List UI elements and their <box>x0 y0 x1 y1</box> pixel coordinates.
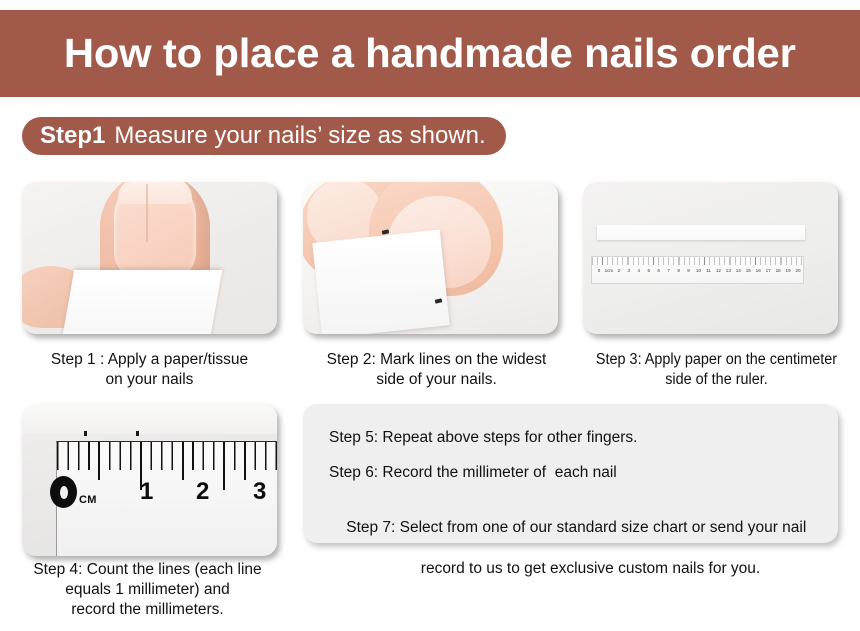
caption-line: Step 4: Count the lines (each line <box>33 561 261 578</box>
ruler-number-label: 4 <box>634 266 644 275</box>
ruler-number-label: 1cm <box>604 266 614 275</box>
ruler-tick-marks <box>592 257 803 265</box>
ruler-number-2: 2 <box>196 480 209 504</box>
caption-line: side of the ruler. <box>665 371 768 388</box>
fingernail-tip-shape <box>118 182 192 204</box>
marked-paper-strip-shape <box>312 230 449 334</box>
ruler-number-label: 18 <box>773 266 783 275</box>
page-header-banner: How to place a handmade nails order <box>0 10 860 97</box>
ruler-number-3: 3 <box>253 480 266 504</box>
step1-pill-strong-label: Step1 <box>40 124 105 148</box>
paper-strip-shape <box>62 270 222 334</box>
ruler-number-label: 14 <box>733 266 743 275</box>
caption-step3: Step 3: Apply paper on the centimetersid… <box>585 350 848 390</box>
info-line-step7-second: record to us to get exclusive custom nai… <box>329 559 812 579</box>
caption-line: on your nails <box>106 371 194 388</box>
photo-card-step4: CM 1 2 3 <box>22 404 277 556</box>
step1-pill: Step1 Measure your nails’ size as shown. <box>22 117 506 155</box>
half-cm-tick-2 <box>182 442 184 480</box>
caption-line: side of your nails. <box>376 371 497 388</box>
ruler-number-label: 10 <box>694 266 704 275</box>
ruler-number-label: 2 <box>614 266 624 275</box>
cm-tick-2 <box>223 442 225 490</box>
ruler-number-label: 16 <box>753 266 763 275</box>
centimeter-ruler: 01cm234567891011121314151617181920 <box>591 256 804 284</box>
info-line-step7: Step 7: Select from one of our standard … <box>329 498 812 619</box>
ruler-number-label: 0 <box>594 266 604 275</box>
caption-line: Step 1 : Apply a paper/tissue <box>51 351 248 368</box>
pencil-mark-left <box>84 431 87 436</box>
info-line-step6: Step 6: Record the millimeter of each na… <box>329 463 812 483</box>
ruler-number-1: 1 <box>140 480 153 504</box>
ruler-number-label: 19 <box>783 266 793 275</box>
ruler-number-label: 7 <box>664 266 674 275</box>
caption-line: equals 1 millimeter) and <box>65 581 230 598</box>
paper-edge-shape <box>22 404 277 434</box>
nail-ridge-line <box>146 184 148 242</box>
ruler-number-label: 8 <box>674 266 684 275</box>
half-cm-tick-3 <box>244 442 246 480</box>
ruler-number-label: 6 <box>654 266 664 275</box>
ruler-zero-label <box>50 476 77 508</box>
info-line-step5: Step 5: Repeat above steps for other fin… <box>329 428 812 448</box>
photo-card-step1 <box>22 182 277 334</box>
ruler-number-label: 20 <box>793 266 803 275</box>
steps-info-panel: Step 5: Repeat above steps for other fin… <box>303 404 838 543</box>
photo-card-step3: 01cm234567891011121314151617181920 <box>583 182 838 334</box>
ruler-number-label: 17 <box>763 266 773 275</box>
ruler-number-label: 9 <box>684 266 694 275</box>
caption-step4: Step 4: Count the lines (each lineequals… <box>6 560 289 619</box>
page-title: How to place a handmade nails order <box>64 33 796 74</box>
caption-line: Step 3: Apply paper on the centimeter <box>596 351 837 368</box>
photo-card-step2 <box>303 182 558 334</box>
pencil-mark-right <box>136 431 139 436</box>
ruler-number-label: 12 <box>713 266 723 275</box>
ruler-cm-unit-label: CM <box>79 494 97 506</box>
ruler-number-label: 11 <box>703 266 713 275</box>
ruler-number-labels: 01cm234567891011121314151617181920 <box>594 266 803 275</box>
step1-pill-text: Measure your nails’ size as shown. <box>114 124 485 148</box>
ruler-number-label: 3 <box>624 266 634 275</box>
caption-line: Step 2: Mark lines on the widest <box>327 351 547 368</box>
ruler-number-label: 5 <box>644 266 654 275</box>
caption-line: record the millimeters. <box>71 601 223 618</box>
caption-step1: Step 1 : Apply a paper/tissueon your nai… <box>8 350 291 390</box>
paper-strip-shape <box>597 225 805 240</box>
ruler-number-label: 13 <box>723 266 733 275</box>
caption-step2: Step 2: Mark lines on the widestside of … <box>295 350 578 390</box>
info-line-step7-first: Step 7: Select from one of our standard … <box>346 519 806 536</box>
half-cm-tick-1 <box>98 442 100 480</box>
ruler-number-label: 15 <box>743 266 753 275</box>
